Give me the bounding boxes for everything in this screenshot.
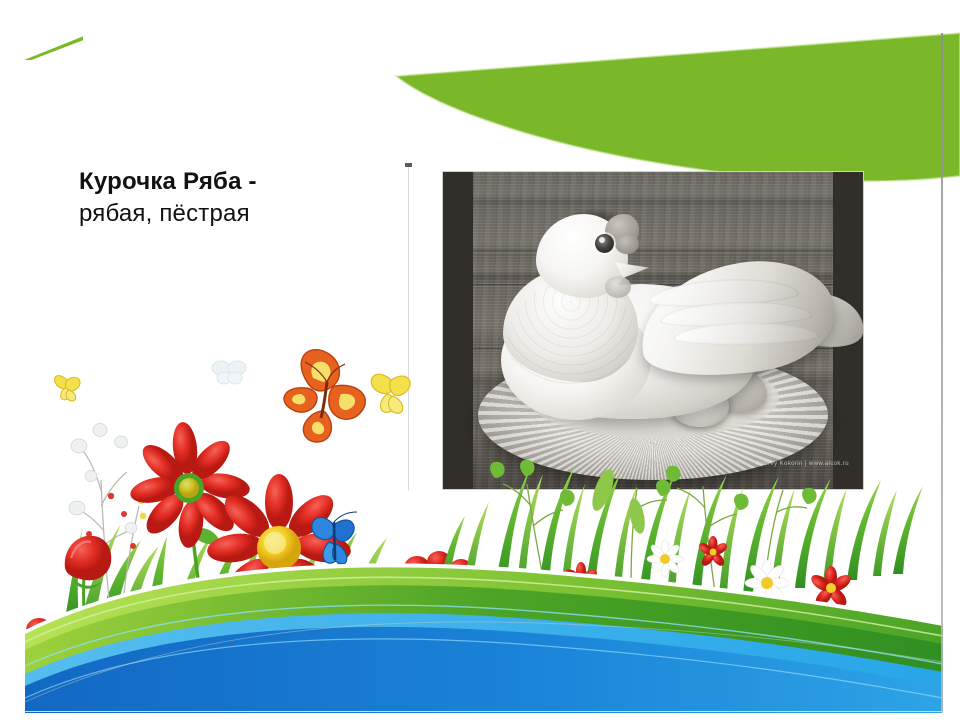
plank-seam [473,250,833,253]
corner-green-sliver [25,36,83,60]
slide-right-edge [941,33,943,713]
hen-comb-lower [615,234,639,254]
slide-bottom-edge [25,711,942,712]
photo-guide-line [408,163,409,491]
title-line-1: Курочка Ряба - [79,166,379,198]
hen-photo[interactable]: Andrey Kokorin | www.alcok.ru [443,172,863,489]
title-line-2: рябая, пёстрая [79,198,379,230]
photo-watermark: Andrey Kokorin | www.alcok.ru [756,461,849,467]
page-title: Курочка Ряба - рябая, пёстрая [79,166,379,229]
slide-canvas: Курочка Ряба - рябая, пёстрая [0,0,960,720]
hen-wattle [605,276,631,298]
hen-eye [595,234,614,253]
photo-guide-tick [405,163,412,167]
